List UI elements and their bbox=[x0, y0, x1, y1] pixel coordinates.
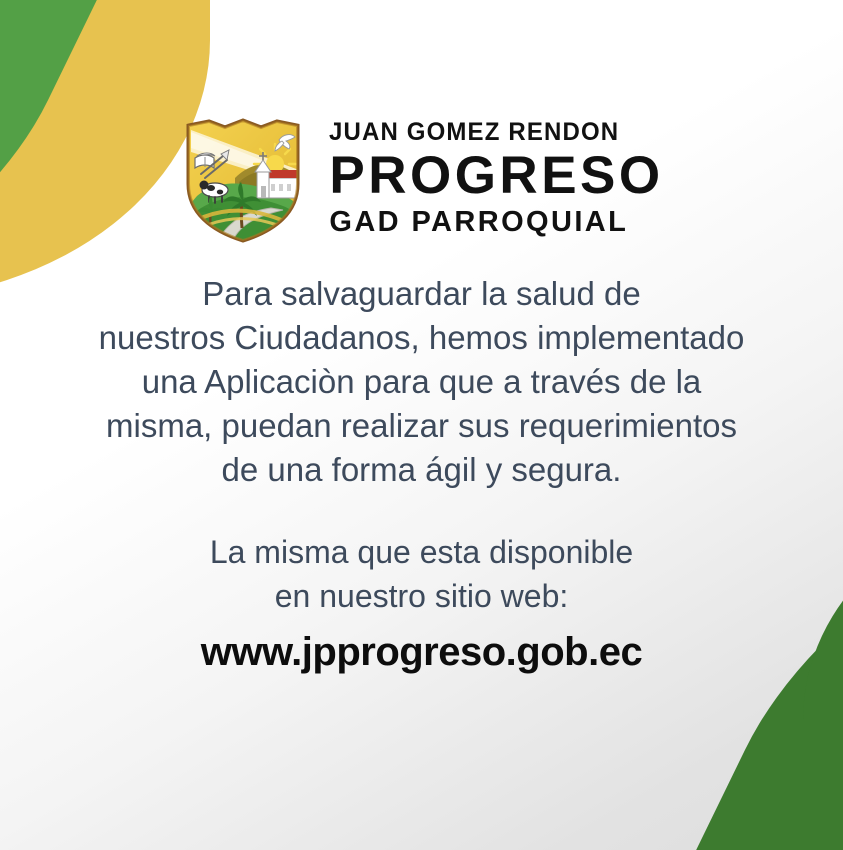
logo-line-progreso: PROGRESO bbox=[329, 149, 663, 202]
bottom-right-yellow-shape bbox=[693, 580, 843, 850]
logo-line-gad-parroquial: GAD PARROQUIAL bbox=[329, 208, 663, 237]
availability-line-1: La misma que esta disponible bbox=[0, 530, 843, 574]
availability-line-2: en nuestro sitio web: bbox=[0, 574, 843, 618]
logo-wordmark: JUAN GOMEZ RENDON PROGRESO GAD PARROQUIA… bbox=[329, 120, 663, 237]
announcement-poster: JUAN GOMEZ RENDON PROGRESO GAD PARROQUIA… bbox=[0, 0, 843, 850]
website-url[interactable]: www.jpprogreso.gob.ec bbox=[0, 630, 843, 675]
message-line-3: una Aplicaciòn para que a través de la bbox=[0, 360, 843, 404]
message-line-1: Para salvaguardar la salud de bbox=[0, 272, 843, 316]
message-line-2: nuestros Ciudadanos, hemos implementado bbox=[0, 316, 843, 360]
message-line-5: de una forma ágil y segura. bbox=[0, 448, 843, 492]
message-line-4: misma, puedan realizar sus requerimiento… bbox=[0, 404, 843, 448]
logo-line-juan-gomez-rendon: JUAN GOMEZ RENDON bbox=[329, 120, 650, 145]
progreso-coat-of-arms bbox=[179, 112, 307, 244]
logo-lockup: JUAN GOMEZ RENDON PROGRESO GAD PARROQUIA… bbox=[0, 112, 843, 244]
availability-block: La misma que esta disponible en nuestro … bbox=[0, 530, 843, 618]
message-block: Para salvaguardar la salud de nuestros C… bbox=[0, 272, 843, 492]
